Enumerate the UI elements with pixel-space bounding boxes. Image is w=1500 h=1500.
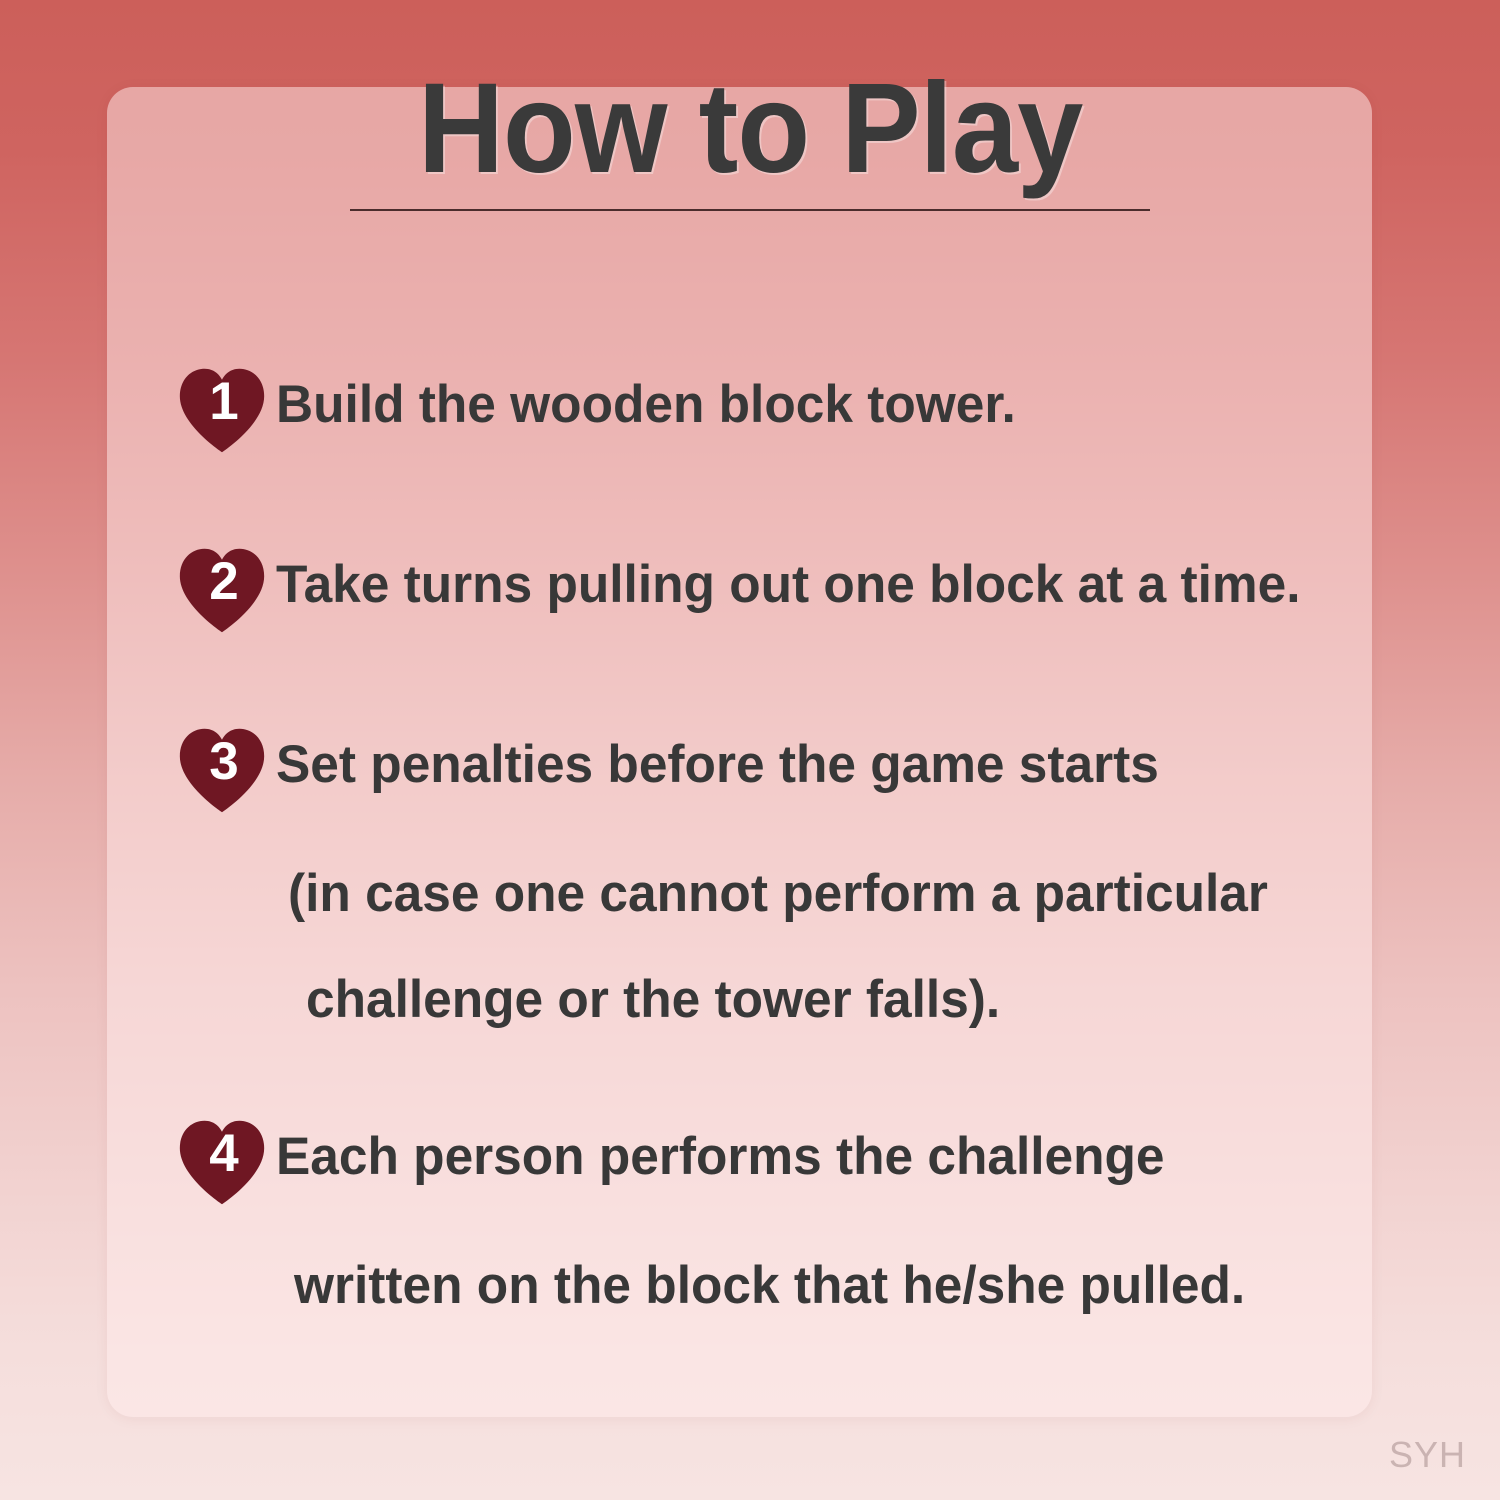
steps-list: 1 Build the wooden block tower. 2 Take t… xyxy=(176,362,1336,1312)
list-item: 1 Build the wooden block tower. xyxy=(176,362,1336,454)
list-item: 3 Set penalties before the game starts (… xyxy=(176,722,1336,1026)
title-block: How to Play xyxy=(0,65,1500,211)
step-number: 3 xyxy=(176,735,272,788)
step-text-continued: (in case one cannot perform a particular xyxy=(288,867,1305,920)
heart-badge-icon: 4 xyxy=(176,1118,268,1206)
watermark: SYH xyxy=(1389,1434,1466,1476)
step-text: Take turns pulling out one block at a ti… xyxy=(276,542,1304,611)
step-text: Each person performs the challenge xyxy=(276,1114,1304,1183)
heart-badge-icon: 1 xyxy=(176,366,268,454)
title-underline xyxy=(350,209,1150,211)
step-number: 1 xyxy=(176,375,272,428)
list-item: 4 Each person performs the challenge wri… xyxy=(176,1114,1336,1312)
page-title: How to Play xyxy=(418,65,1082,193)
step-number: 4 xyxy=(176,1127,272,1180)
step-text: Build the wooden block tower. xyxy=(276,362,1304,431)
heart-badge-icon: 2 xyxy=(176,546,268,634)
poster-canvas: How to Play 1 Build the wooden block tow… xyxy=(0,0,1500,1500)
step-number: 2 xyxy=(176,555,272,608)
step-text-continued: challenge or the tower falls). xyxy=(306,973,1305,1026)
step-text-continued: written on the block that he/she pulled. xyxy=(294,1259,1305,1312)
list-item: 2 Take turns pulling out one block at a … xyxy=(176,542,1336,634)
step-text: Set penalties before the game starts xyxy=(276,722,1304,791)
heart-badge-icon: 3 xyxy=(176,726,268,814)
